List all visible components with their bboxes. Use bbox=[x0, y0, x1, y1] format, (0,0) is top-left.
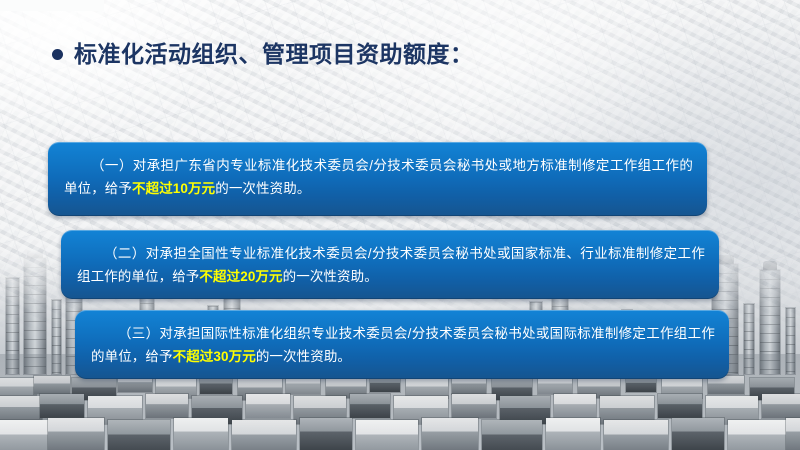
callout-text-1: （一）对承担广东省内专业标准化技术委员会/分技术委员会秘书处或地方标准制修定工作… bbox=[64, 154, 693, 200]
callout-text-2: （二）对承担全国性专业标准化技术委员会/分技术委员会秘书处或国家标准、行业标准制… bbox=[77, 242, 705, 288]
callout-amount-1: 不超过10万元 bbox=[132, 181, 215, 196]
callout-amount-2: 不超过20万元 bbox=[199, 269, 282, 284]
callout-amount-3: 不超过30万元 bbox=[173, 349, 256, 364]
bullet-icon bbox=[52, 49, 63, 60]
callout-text-3: （三）对承担国际性标准化组织专业技术委员会/分技术委员会秘书处或国际标准制修定工… bbox=[91, 322, 715, 368]
slide-title: 标准化活动组织、管理项目资助额度： bbox=[52, 42, 474, 67]
callout-tail-3: 的一次性资助。 bbox=[256, 349, 351, 364]
callout-box-1: （一）对承担广东省内专业标准化技术委员会/分技术委员会秘书处或地方标准制修定工作… bbox=[48, 142, 707, 216]
top-left-white-patch bbox=[0, 0, 104, 11]
presentation-slide: 标准化活动组织、管理项目资助额度： （一）对承担广东省内专业标准化技术委员会/分… bbox=[0, 0, 800, 450]
callout-tail-2: 的一次性资助。 bbox=[283, 269, 378, 284]
page-title: 标准化活动组织、管理项目资助额度： bbox=[74, 42, 474, 67]
callout-box-3: （三）对承担国际性标准化组织专业技术委员会/分技术委员会秘书处或国际标准制修定工… bbox=[75, 310, 729, 379]
callout-box-2: （二）对承担全国性专业标准化技术委员会/分技术委员会秘书处或国家标准、行业标准制… bbox=[61, 230, 719, 299]
callout-tail-1: 的一次性资助。 bbox=[215, 181, 310, 196]
callout-lead-2: （二）对承担全国性专业标准化技术委员会/分技术委员会秘书处或国家标准、行业标准制… bbox=[77, 246, 705, 284]
